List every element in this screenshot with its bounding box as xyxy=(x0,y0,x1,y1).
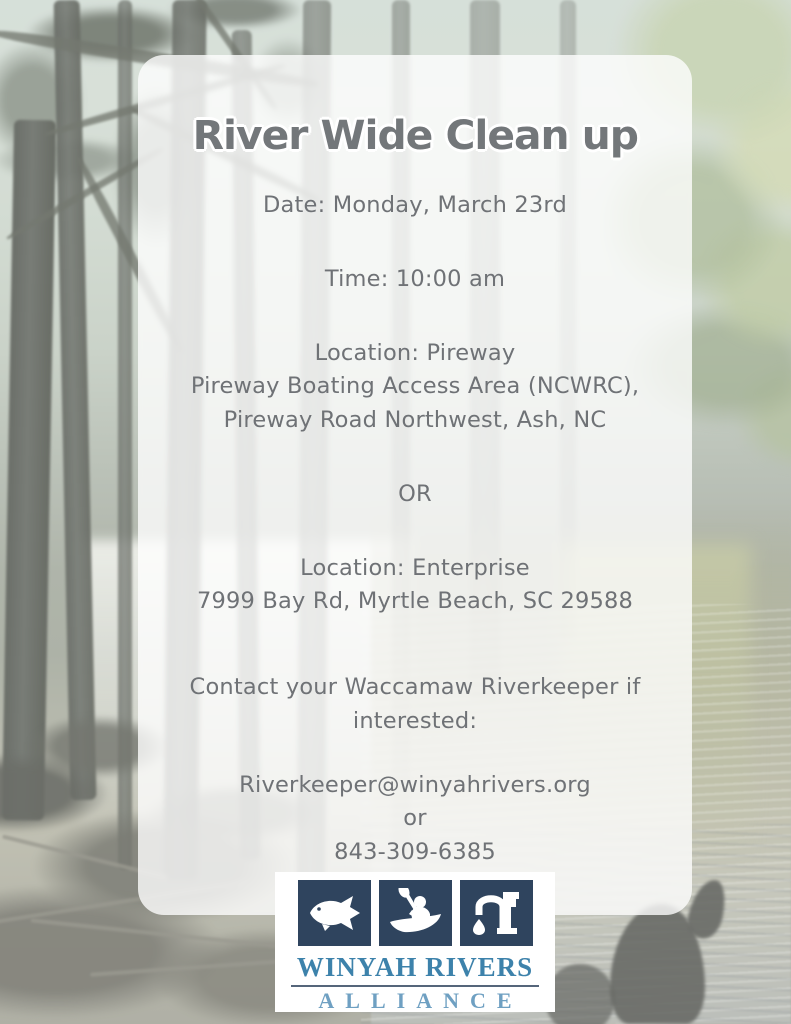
contact-phone[interactable]: 843-309-6385 xyxy=(334,836,496,870)
or-divider: OR xyxy=(398,478,432,512)
logo-icon-row xyxy=(275,872,555,946)
contact-prompt-line-2: interested: xyxy=(353,705,477,739)
poster-title: River Wide Clean up xyxy=(192,113,637,159)
contact-or: or xyxy=(403,802,426,836)
winyah-rivers-alliance-logo: WINYAH RIVERS ALLIANCE xyxy=(275,872,555,1012)
logo-name: WINYAH RIVERS xyxy=(275,954,555,981)
contact-email[interactable]: Riverkeeper@winyahrivers.org xyxy=(239,769,591,803)
fish-icon xyxy=(306,894,362,932)
logo-icon-badge-fish xyxy=(298,880,371,946)
date-line: Date: Monday, March 23rd xyxy=(263,189,567,223)
logo-divider-rule xyxy=(291,985,539,987)
contact-prompt-line-1: Contact your Waccamaw Riverkeeper if xyxy=(190,671,641,705)
location-2-label: Location: Enterprise xyxy=(300,552,530,586)
location-1-address-line-1: Pireway Boating Access Area (NCWRC), xyxy=(191,370,639,404)
logo-subtitle: ALLIANCE xyxy=(275,990,555,1012)
logo-icon-badge-kayaker xyxy=(379,880,452,946)
poster-content: River Wide Clean up Date: Monday, March … xyxy=(138,55,692,915)
kayaker-icon xyxy=(386,888,444,938)
location-1-label: Location: Pireway xyxy=(315,337,516,371)
logo-icon-badge-faucet xyxy=(460,880,533,946)
location-1-address-line-2: Pireway Road Northwest, Ash, NC xyxy=(224,404,607,438)
faucet-icon xyxy=(470,888,522,938)
time-line: Time: 10:00 am xyxy=(325,263,505,297)
location-2-address-line-1: 7999 Bay Rd, Myrtle Beach, SC 29588 xyxy=(197,585,633,619)
poster-canvas: River Wide Clean up Date: Monday, March … xyxy=(0,0,791,1024)
